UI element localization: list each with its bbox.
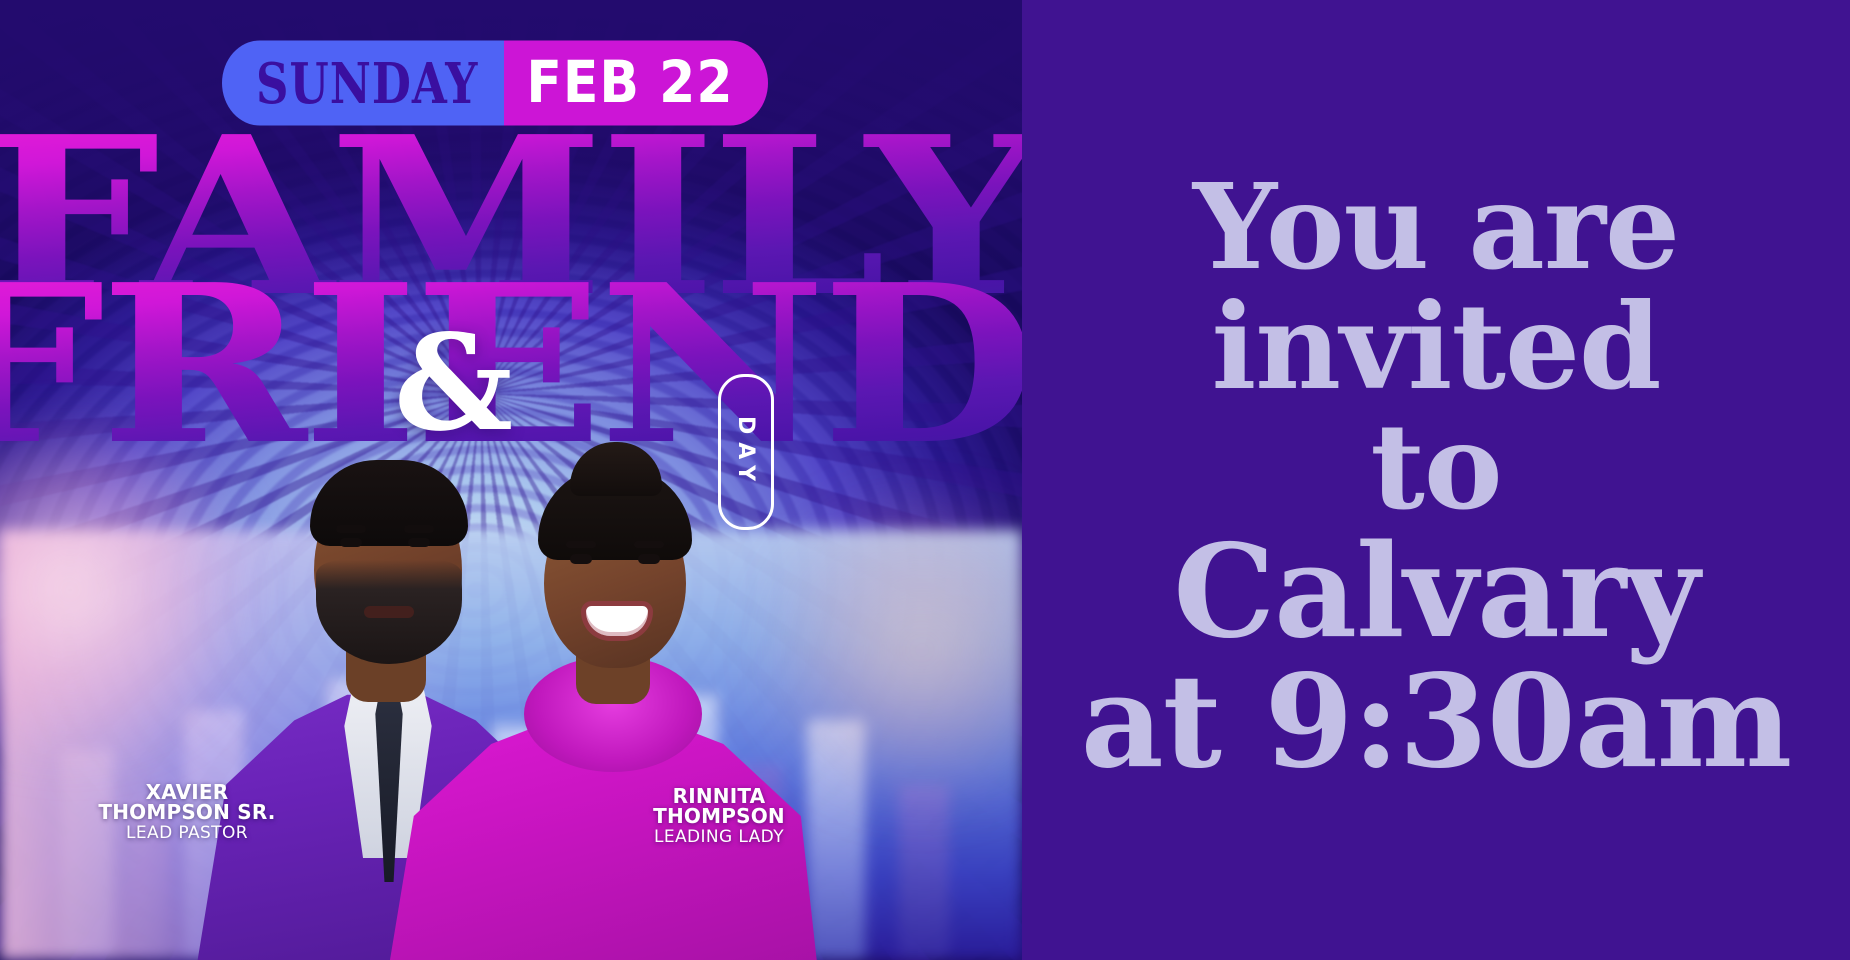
invite-line-3: to: [1081, 408, 1791, 526]
invite-line-2: invited: [1081, 288, 1791, 406]
event-flyer-panel: SUNDAY FEB 22 FAMILY FRIENDS & DAY: [0, 0, 1022, 960]
invite-line-5: at 9:30am: [1081, 658, 1791, 786]
pastor-eye-left: [340, 538, 362, 547]
pastor-name-line-2: THOMPSON SR.: [62, 802, 312, 822]
invitation-message: You are invited to Calvary at 9:30am: [1081, 166, 1791, 794]
pastor-hair: [310, 460, 468, 546]
lady-role: LEADING LADY: [604, 827, 834, 848]
lady-eyebrow-right: [634, 541, 664, 548]
invite-line-1: You are: [1081, 168, 1791, 286]
portrait-leading-lady: [452, 448, 782, 960]
invitation-text-panel: You are invited to Calvary at 9:30am: [1022, 0, 1850, 960]
pastor-mouth: [364, 606, 414, 618]
pastor-eyebrow-left: [336, 525, 366, 533]
pastor-eyebrow-right: [404, 525, 434, 533]
invite-line-4: Calvary: [1081, 528, 1791, 656]
lady-eye-right: [638, 554, 660, 564]
name-label-leading-lady: RINNITA THOMPSON LEADING LADY: [604, 786, 834, 848]
pastor-role: LEAD PASTOR: [62, 823, 312, 844]
invitation-graphic: SUNDAY FEB 22 FAMILY FRIENDS & DAY: [0, 0, 1850, 960]
lady-eye-left: [570, 554, 592, 564]
lady-eyebrow-left: [566, 541, 596, 548]
name-label-lead-pastor: XAVIER THOMPSON SR. LEAD PASTOR: [62, 782, 312, 844]
lady-name-line-2: THOMPSON: [604, 806, 834, 826]
lady-hair-bun: [570, 442, 662, 496]
pastor-eye-right: [408, 538, 430, 547]
